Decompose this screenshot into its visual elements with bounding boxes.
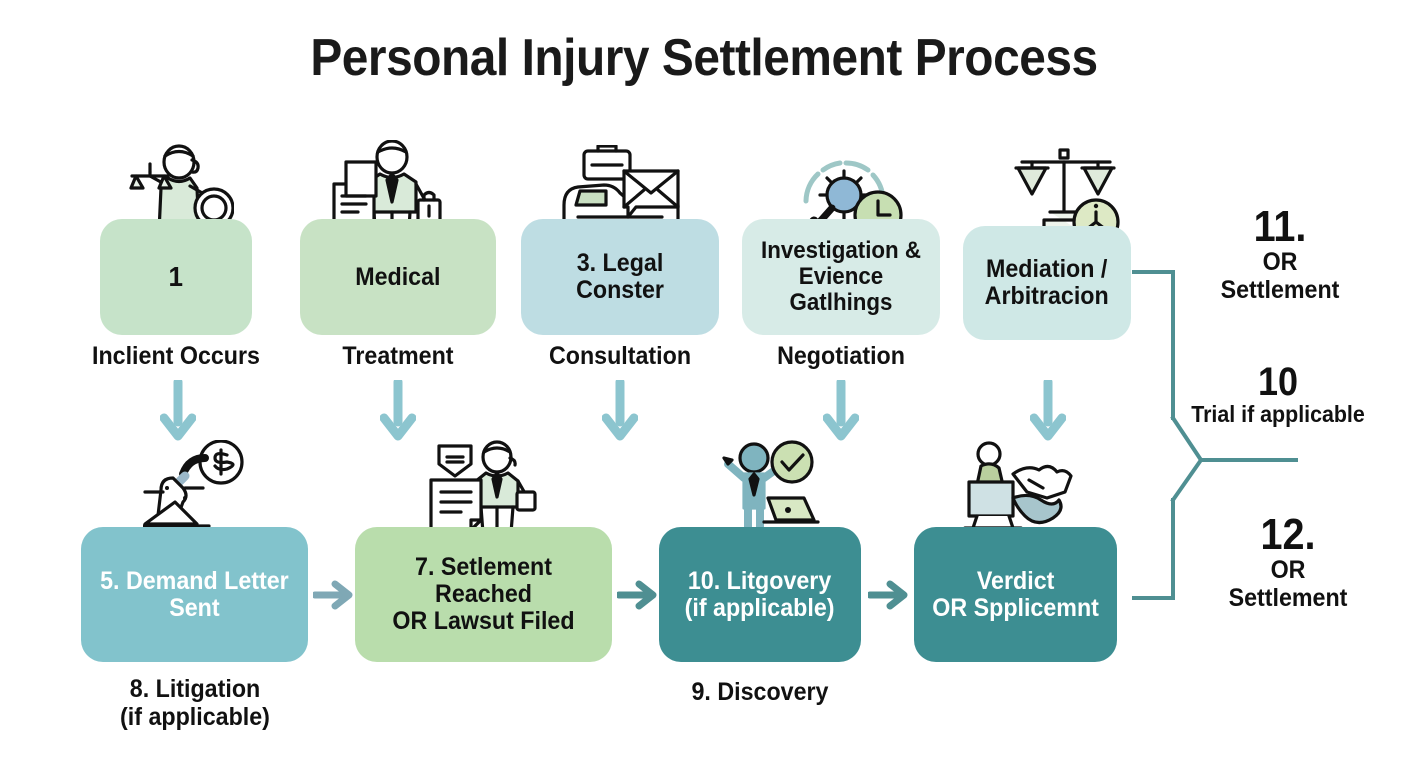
step-box-1[interactable]: 1 xyxy=(100,219,252,335)
outcome-12-number: 12. xyxy=(1198,513,1378,557)
step-box-7-label-line1: 7. Setlement Reached xyxy=(371,554,595,608)
step-caption-8-line1: 9. Discovery xyxy=(667,679,853,707)
step-caption-6-line1: 8. Litigation xyxy=(102,676,288,704)
right-arrow-3 xyxy=(868,578,908,612)
step-box-9-label-line2: OR Spplicemnt xyxy=(932,595,1099,622)
step-box-8-label-line2: (if applicable) xyxy=(685,595,835,622)
step-box-3-label: 3. Legal Conster xyxy=(535,250,704,304)
right-arrow-2 xyxy=(617,578,657,612)
step-box-9[interactable]: Verdict OR Spplicemnt xyxy=(914,527,1117,662)
step-caption-1: Inclient Occurs xyxy=(83,343,269,371)
outcome-11-line1: OR xyxy=(1187,249,1373,277)
down-arrow-1 xyxy=(160,380,196,442)
person-check-laptop-icon xyxy=(710,440,822,536)
outcome-10-number: 10 xyxy=(1188,362,1368,402)
step-box-6-label-line2: Sent xyxy=(100,595,289,622)
document-person-badge-icon xyxy=(425,440,537,536)
step-box-3[interactable]: 3. Legal Conster xyxy=(521,219,719,335)
outcome-11: 11. OR Settlement xyxy=(1180,205,1380,304)
down-arrow-2 xyxy=(380,380,416,442)
outcome-10: 10 Trial if applicable xyxy=(1178,362,1378,427)
step-box-5-label-line1: Mediation / xyxy=(985,256,1109,283)
step-box-9-label-line1: Verdict xyxy=(932,568,1099,595)
step-box-4-label-line1: Investigation & xyxy=(756,238,925,264)
right-arrow-1 xyxy=(313,578,353,612)
judge-podium-hand-icon xyxy=(963,440,1079,536)
step-box-7-label-line2: OR Lawsut Filed xyxy=(371,608,595,635)
page-title: Personal Injury Settlement Process xyxy=(56,28,1351,88)
step-caption-6-line2: (if applicable) xyxy=(102,704,288,732)
step-box-5-label-line2: Arbitracion xyxy=(985,283,1109,310)
step-box-2[interactable]: Medical xyxy=(300,219,496,335)
step-box-2-label: Medical xyxy=(355,264,440,291)
down-arrow-4 xyxy=(823,380,859,442)
step-box-1-label: 1 xyxy=(169,262,183,292)
outcome-12: 12. OR Settlement xyxy=(1188,513,1388,612)
outcome-12-line2: Settlement xyxy=(1195,585,1381,613)
step-caption-6: 8. Litigation (if applicable) xyxy=(102,676,288,731)
step-box-8[interactable]: 10. Litgovery (if applicable) xyxy=(659,527,861,662)
dollar-coin-arm-icon xyxy=(143,440,251,532)
step-caption-8: 9. Discovery xyxy=(667,679,853,707)
step-box-6[interactable]: 5. Demand Letter Sent xyxy=(81,527,308,662)
infographic-canvas: Personal Injury Settlement Process xyxy=(0,0,1408,768)
step-caption-2: Treatment xyxy=(305,343,491,371)
outcome-10-line1: Trial if applicable xyxy=(1185,402,1371,427)
step-box-7[interactable]: 7. Setlement Reached OR Lawsut Filed xyxy=(355,527,612,662)
step-caption-3: Consultation xyxy=(527,343,713,371)
outcome-11-number: 11. xyxy=(1190,205,1370,249)
step-box-4[interactable]: Investigation & Evience Gatlhings xyxy=(742,219,940,335)
down-arrow-5 xyxy=(1030,380,1066,442)
outcome-12-line1: OR xyxy=(1195,557,1381,585)
outcome-11-line2: Settlement xyxy=(1187,277,1373,305)
step-caption-4: Negotiation xyxy=(748,343,934,371)
step-box-4-label-line2: Evience Gatlhings xyxy=(756,264,925,316)
step-box-6-label-line1: 5. Demand Letter xyxy=(100,568,289,595)
down-arrow-3 xyxy=(602,380,638,442)
step-box-8-label-line1: 10. Litgovery xyxy=(685,568,835,595)
